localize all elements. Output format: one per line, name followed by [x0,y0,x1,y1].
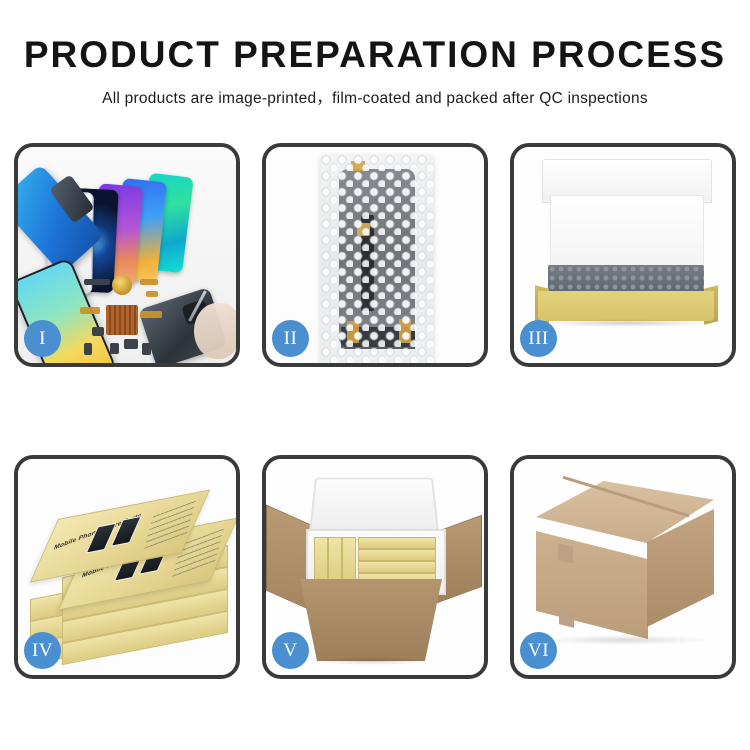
page-title: PRODUCT PREPARATION PROCESS [0,36,750,73]
carton-body [300,579,442,661]
flex-cable-part [140,279,158,285]
screen-print-image [86,523,117,554]
foam-lid [309,478,440,536]
kraft-box-base [538,291,714,321]
box-inner-wall [550,195,704,275]
flex-cable-part [146,291,158,297]
packed-yellow-box [358,561,436,573]
step-badge-5: V [272,632,309,669]
screen-print-image [111,516,142,547]
process-step-grid: I II [14,143,736,689]
copper-coil-part [112,275,132,295]
small-part [84,343,92,355]
page-header: PRODUCT PREPARATION PROCESS All products… [0,0,750,108]
page-subtitle: All products are image-printed，film-coat… [0,86,750,108]
process-step-4: Mobile Phone Spare Parts Mobile Phone Sp… [14,455,240,679]
carton-tape [558,543,573,564]
process-step-1: I [14,143,240,367]
step-badge-6: VI [520,632,557,669]
box-stack: Mobile Phone Spare Parts Mobile Phone Sp… [24,477,232,657]
flex-cable-part [140,311,162,318]
step-badge-1: I [24,320,61,357]
small-part [92,327,104,336]
flex-cable-part [80,307,100,314]
small-part [84,279,110,285]
carton-shadow [312,657,432,665]
process-step-6: VI [510,455,736,679]
chip-array-part [106,305,138,335]
process-step-5: V [262,455,488,679]
small-part [124,339,138,349]
box-shadow [540,319,712,327]
carton-tape [559,607,574,628]
carton-shadow [540,635,710,645]
small-part [142,343,151,355]
bubble-texture [321,155,433,363]
step-badge-4: IV [24,632,61,669]
step-badge-3: III [520,320,557,357]
step-badge-2: II [272,320,309,357]
process-step-3: III [510,143,736,367]
bubble-wrap-bag [321,155,433,363]
packed-yellow-box [358,537,436,549]
packed-yellow-box [358,549,436,561]
technician-hand [194,303,236,359]
process-step-2: II [262,143,488,367]
small-part [110,343,119,354]
